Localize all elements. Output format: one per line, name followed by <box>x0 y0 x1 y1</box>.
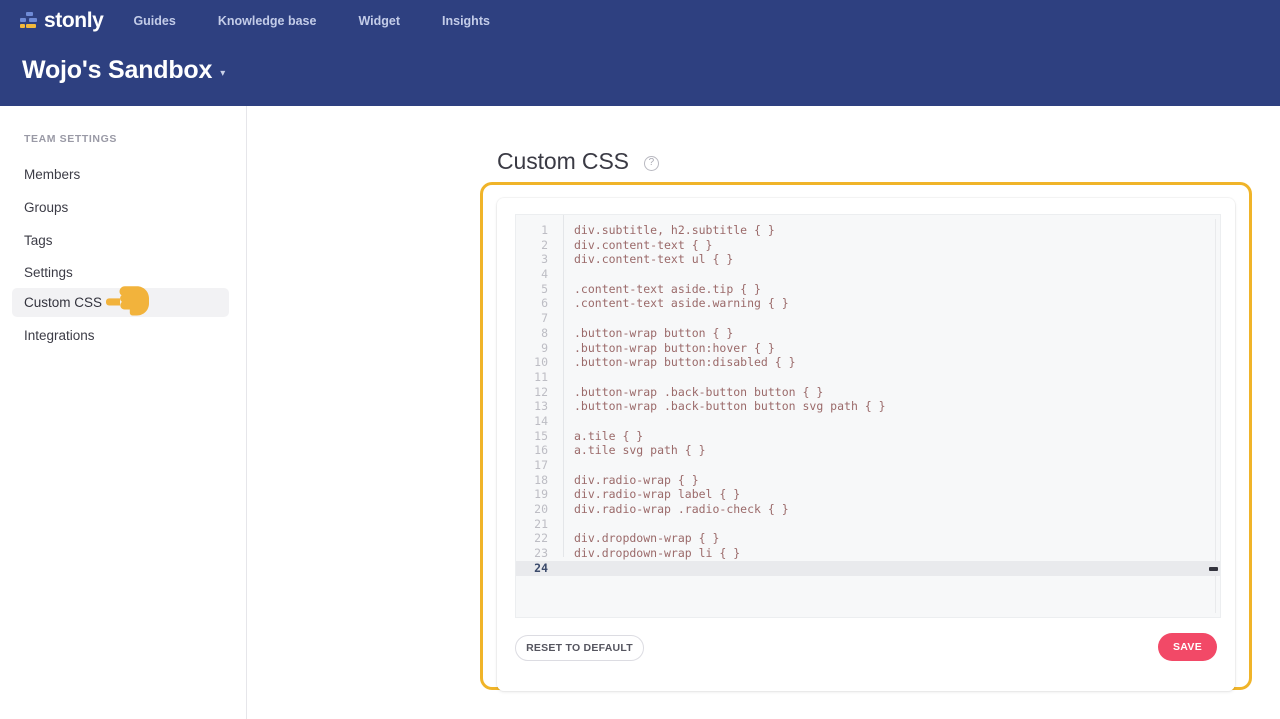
code-line-text: div.subtitle, h2.subtitle { } <box>559 223 775 238</box>
code-line[interactable]: 17 <box>516 458 1220 473</box>
code-line[interactable]: 10.button-wrap button:disabled { } <box>516 355 1220 370</box>
code-line-text <box>559 267 574 282</box>
line-number: 20 <box>516 502 559 517</box>
code-line[interactable]: 16a.tile svg path { } <box>516 443 1220 458</box>
css-code-editor[interactable]: 1div.subtitle, h2.subtitle { }2div.conte… <box>515 214 1221 618</box>
code-line[interactable]: 24 <box>516 561 1220 576</box>
code-line-text <box>559 458 574 473</box>
code-line[interactable]: 4 <box>516 267 1220 282</box>
line-number: 1 <box>516 223 559 238</box>
line-number: 11 <box>516 370 559 385</box>
team-name: Wojo's Sandbox <box>22 56 212 85</box>
code-line-text: div.dropdown-wrap li { } <box>559 546 740 561</box>
line-number: 22 <box>516 531 559 546</box>
nav-links: Guides Knowledge base Widget Insights <box>133 14 510 28</box>
code-line[interactable]: 22div.dropdown-wrap { } <box>516 531 1220 546</box>
line-number: 4 <box>516 267 559 282</box>
nav-link-guides[interactable]: Guides <box>133 14 196 28</box>
code-line[interactable]: 15a.tile { } <box>516 429 1220 444</box>
code-line-text <box>559 370 574 385</box>
sidebar-item-integrations[interactable]: Integrations <box>12 321 229 350</box>
main-content: Custom CSS ? 1div.subtitle, h2.subtitle … <box>248 106 1280 719</box>
code-line-text <box>559 517 574 532</box>
sidebar-item-groups[interactable]: Groups <box>12 193 229 222</box>
line-number: 24 <box>516 561 559 576</box>
code-line-text: a.tile { } <box>559 429 643 444</box>
code-line-text: .button-wrap button { } <box>559 326 733 341</box>
stonly-logo[interactable]: stonly <box>19 7 103 35</box>
line-number: 21 <box>516 517 559 532</box>
code-line-text: div.dropdown-wrap { } <box>559 531 719 546</box>
code-lines-container: 1div.subtitle, h2.subtitle { }2div.conte… <box>516 223 1220 576</box>
sidebar-item-label: Groups <box>12 200 68 215</box>
nav-row: stonly Guides Knowledge base Widget Insi… <box>0 0 1280 41</box>
chevron-down-icon: ▾ <box>220 69 225 79</box>
page-title: Custom CSS <box>497 148 629 175</box>
line-number: 8 <box>516 326 559 341</box>
code-line[interactable]: 6.content-text aside.warning { } <box>516 296 1220 311</box>
line-number: 12 <box>516 385 559 400</box>
page-header: Custom CSS ? <box>497 148 659 175</box>
code-line-text <box>559 561 574 576</box>
code-line[interactable]: 19div.radio-wrap label { } <box>516 487 1220 502</box>
code-line-text: div.radio-wrap .radio-check { } <box>559 502 789 517</box>
line-number: 2 <box>516 238 559 253</box>
stonly-logo-icon <box>19 11 39 31</box>
nav-link-widget[interactable]: Widget <box>337 14 421 28</box>
line-number: 14 <box>516 414 559 429</box>
code-line-text: .button-wrap button:hover { } <box>559 341 775 356</box>
code-line[interactable]: 8.button-wrap button { } <box>516 326 1220 341</box>
code-line-text: a.tile svg path { } <box>559 443 706 458</box>
code-line[interactable]: 5.content-text aside.tip { } <box>516 282 1220 297</box>
custom-css-card: 1div.subtitle, h2.subtitle { }2div.conte… <box>497 198 1235 691</box>
line-number: 3 <box>516 252 559 267</box>
code-line[interactable]: 11 <box>516 370 1220 385</box>
line-number: 6 <box>516 296 559 311</box>
code-line[interactable]: 23div.dropdown-wrap li { } <box>516 546 1220 561</box>
code-line[interactable]: 9.button-wrap button:hover { } <box>516 341 1220 356</box>
code-line[interactable]: 7 <box>516 311 1220 326</box>
sidebar-heading: TEAM SETTINGS <box>24 133 117 145</box>
code-line-text: div.content-text { } <box>559 238 712 253</box>
code-line-text <box>559 311 574 326</box>
sidebar-item-label: Tags <box>12 233 53 248</box>
line-number: 23 <box>516 546 559 561</box>
top-navigation-bar: stonly Guides Knowledge base Widget Insi… <box>0 0 1280 106</box>
help-icon[interactable]: ? <box>644 156 659 171</box>
code-line[interactable]: 2div.content-text { } <box>516 238 1220 253</box>
line-number: 19 <box>516 487 559 502</box>
save-button[interactable]: SAVE <box>1158 633 1217 661</box>
sidebar-item-settings[interactable]: Settings <box>12 258 229 287</box>
code-line-text: .button-wrap button:disabled { } <box>559 355 796 370</box>
code-line-text: .button-wrap .back-button button { } <box>559 385 823 400</box>
code-line-text: .content-text aside.warning { } <box>559 296 789 311</box>
sidebar-item-custom-css[interactable]: Custom CSS <box>12 288 229 317</box>
code-line[interactable]: 20div.radio-wrap .radio-check { } <box>516 502 1220 517</box>
nav-link-insights[interactable]: Insights <box>421 14 511 28</box>
editor-scrollbar-thumb[interactable] <box>1209 567 1218 571</box>
code-line-text: .content-text aside.tip { } <box>559 282 761 297</box>
code-line[interactable]: 3div.content-text ul { } <box>516 252 1220 267</box>
code-line-text <box>559 414 574 429</box>
sidebar-item-label: Integrations <box>12 328 95 343</box>
code-line[interactable]: 18div.radio-wrap { } <box>516 473 1220 488</box>
line-number: 15 <box>516 429 559 444</box>
code-line-text: div.radio-wrap label { } <box>559 487 740 502</box>
sidebar-item-label: Members <box>12 167 80 182</box>
line-number: 10 <box>516 355 559 370</box>
code-line[interactable]: 1div.subtitle, h2.subtitle { } <box>516 223 1220 238</box>
sidebar-item-label: Settings <box>12 265 73 280</box>
sidebar-item-label: Custom CSS <box>12 295 102 310</box>
code-line[interactable]: 21 <box>516 517 1220 532</box>
code-line-text: .button-wrap .back-button button svg pat… <box>559 399 886 414</box>
code-line[interactable]: 12.button-wrap .back-button button { } <box>516 385 1220 400</box>
brand-name: stonly <box>44 10 103 31</box>
nav-link-knowledge-base[interactable]: Knowledge base <box>197 14 338 28</box>
line-number: 17 <box>516 458 559 473</box>
sidebar: TEAM SETTINGS Members Groups Tags Settin… <box>0 106 247 719</box>
code-line[interactable]: 13.button-wrap .back-button button svg p… <box>516 399 1220 414</box>
line-number: 18 <box>516 473 559 488</box>
line-number: 13 <box>516 399 559 414</box>
line-number: 7 <box>516 311 559 326</box>
code-line-text: div.radio-wrap { } <box>559 473 699 488</box>
line-number: 9 <box>516 341 559 356</box>
line-number: 5 <box>516 282 559 297</box>
line-number: 16 <box>516 443 559 458</box>
code-line-text: div.content-text ul { } <box>559 252 733 267</box>
team-switcher[interactable]: Wojo's Sandbox ▾ <box>22 56 225 85</box>
reset-to-default-button[interactable]: RESET TO DEFAULT <box>515 635 644 661</box>
code-line[interactable]: 14 <box>516 414 1220 429</box>
sidebar-item-tags[interactable]: Tags <box>12 226 229 255</box>
sidebar-item-members[interactable]: Members <box>12 160 229 189</box>
editor-scrollbar-track[interactable] <box>1215 219 1216 613</box>
